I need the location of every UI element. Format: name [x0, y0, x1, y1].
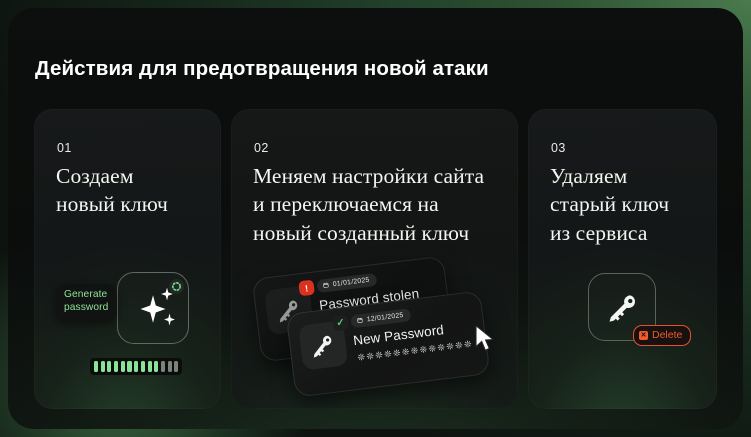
loading-spinner-icon — [169, 279, 184, 294]
check-icon: ✓ — [332, 315, 349, 332]
step-card-1[interactable]: 01 Создаем новый ключ — [34, 109, 221, 409]
key-icon — [308, 331, 337, 360]
key-tile: ✓ — [298, 320, 348, 370]
sparkle-small-icon-2 — [163, 313, 176, 326]
meter-bar — [134, 361, 138, 372]
step-card-2[interactable]: 02 Меняем настройки сайта и переключаемс… — [231, 109, 518, 409]
meter-bar — [154, 361, 158, 372]
delete-key-illustration: ✕ Delete — [528, 109, 717, 409]
meter-bar-empty — [174, 361, 178, 372]
password-strength-meter — [90, 358, 182, 375]
meter-bar-empty — [168, 361, 172, 372]
date-text: 01/01/2025 — [332, 276, 370, 287]
meter-bar — [107, 361, 111, 372]
generate-password-tooltip[interactable]: Generate password — [56, 284, 116, 321]
meter-bar — [114, 361, 118, 372]
key-icon — [606, 291, 640, 325]
slide-background: Действия для предотвращения новой атаки … — [0, 0, 751, 437]
calendar-icon — [323, 282, 330, 289]
meter-bar — [141, 361, 145, 372]
meter-bar — [94, 361, 98, 372]
meter-bar — [148, 361, 152, 372]
date-chip: 01/01/2025 — [316, 273, 377, 293]
meter-bar — [121, 361, 125, 372]
meter-bar-empty — [161, 361, 165, 372]
meter-bar — [101, 361, 105, 372]
calendar-icon — [357, 317, 364, 324]
delete-button[interactable]: ✕ Delete — [633, 325, 691, 346]
warning-icon: ! — [298, 280, 315, 297]
delete-button-label: Delete — [652, 329, 682, 341]
step-card-3[interactable]: 03 Удаляем старый ключ из сервиса ✕ Dele… — [528, 109, 717, 409]
generate-key-illustration: Generate password — [34, 109, 221, 409]
password-switch-illustration: ! 01/01/2025 Password stolen — [231, 109, 518, 409]
mouse-cursor-icon — [473, 325, 496, 353]
content-panel: Действия для предотвращения новой атаки … — [8, 8, 743, 429]
page-title: Действия для предотвращения новой атаки — [35, 57, 489, 81]
date-chip: 12/01/2025 — [350, 308, 411, 328]
steps-container: 01 Создаем новый ключ — [34, 109, 717, 409]
delete-x-icon: ✕ — [639, 331, 648, 340]
date-text: 12/01/2025 — [366, 311, 404, 322]
meter-bar — [127, 361, 131, 372]
